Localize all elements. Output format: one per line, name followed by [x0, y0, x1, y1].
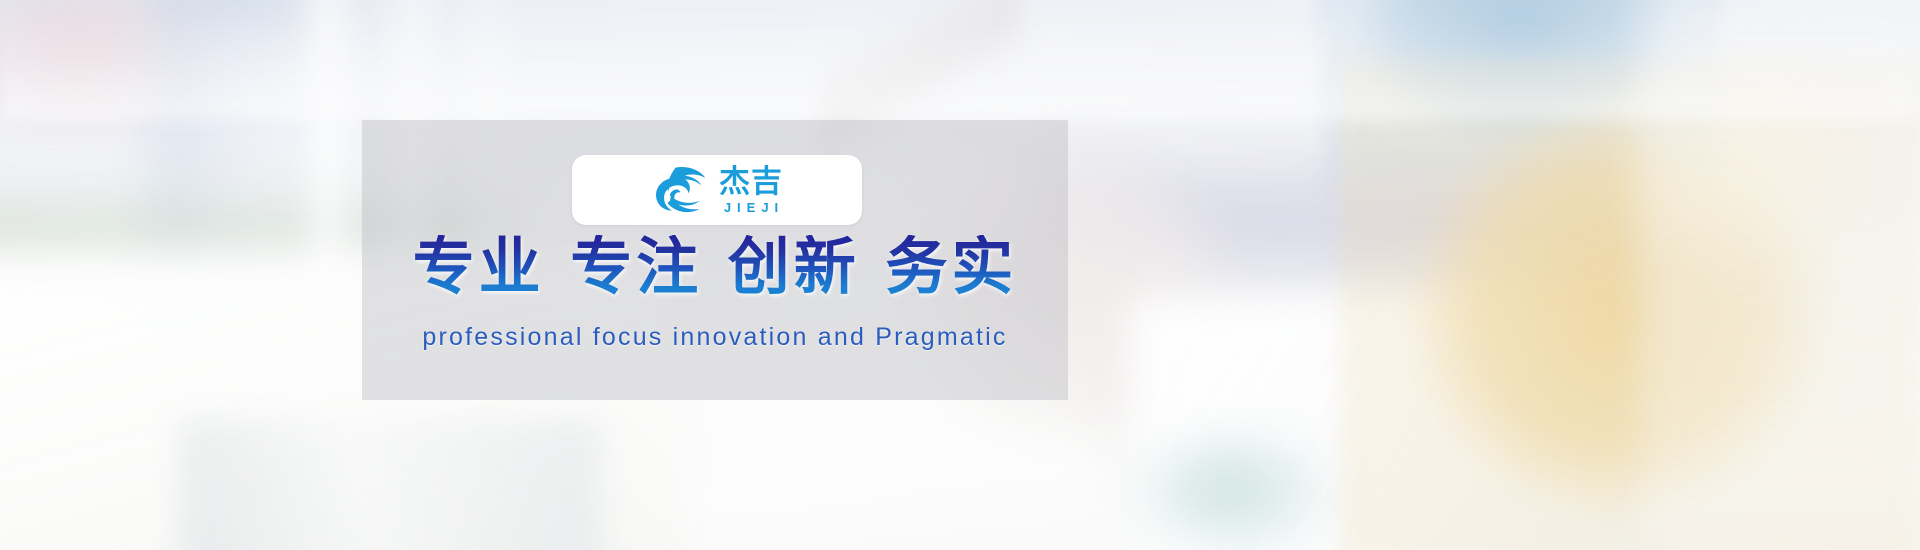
background-far-wall [1640, 0, 1920, 550]
logo-chinese-name: 杰吉 [719, 167, 783, 198]
background-highlight-bar-1 [300, 0, 358, 420]
promo-panel: 杰吉 JIEJI 专业 专注 创新 务实 professional focus … [362, 120, 1068, 400]
background-lab-coat-sleeve [1130, 300, 1650, 550]
background-blonde-hair [1340, 60, 1920, 550]
company-logo[interactable]: 杰吉 JIEJI [572, 155, 862, 225]
logo-wordmark: 杰吉 JIEJI [718, 167, 784, 214]
background-hair-highlight [1560, 30, 1920, 330]
background-teal-accent [1080, 380, 1380, 550]
jieji-swirl-mark-icon [650, 163, 708, 217]
background-window-column [150, 0, 380, 390]
logo-pinyin: JIEJI [718, 201, 784, 214]
background-lavender-band [1020, 130, 1640, 320]
slogan-headline: 专业 专注 创新 务实 [362, 235, 1068, 298]
background-instruments [180, 420, 600, 550]
background-surgical-cap [1320, 0, 1720, 180]
background-bottom-fade [0, 0, 1920, 120]
slogan-subtitle: professional focus innovation and Pragma… [362, 323, 1068, 352]
hero-banner: 杰吉 JIEJI 专业 专注 创新 务实 professional focus … [0, 0, 1920, 550]
